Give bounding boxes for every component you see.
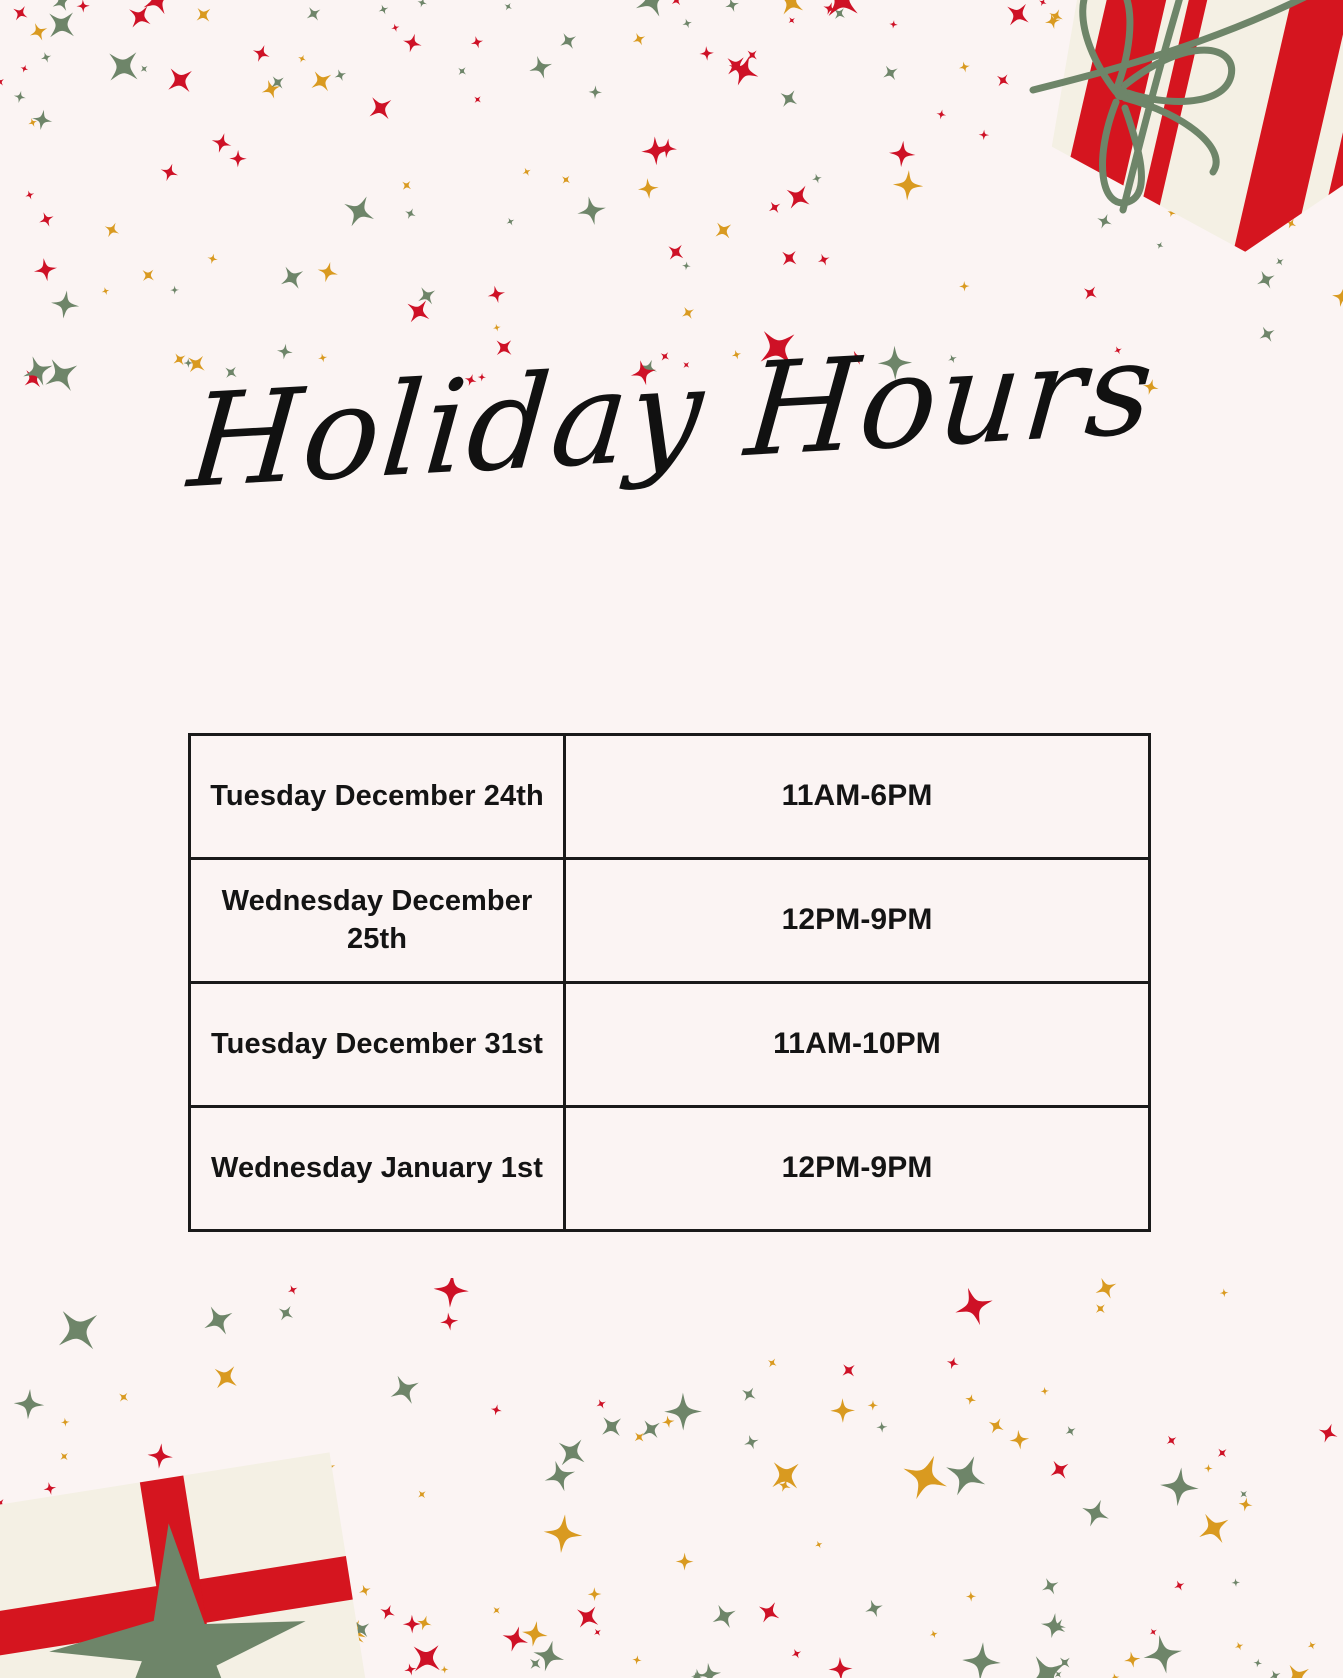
table-cell-day: Wednesday January 1st (190, 1107, 565, 1231)
sparkle-confetti-icon (0, 1278, 1343, 1678)
page-title: Holiday Hours (184, 325, 1159, 508)
table-cell-day: Tuesday December 24th (190, 735, 565, 859)
day-label: Wednesday January 1st (211, 1152, 543, 1184)
gift-box-striped-icon (973, 0, 1343, 260)
day-label: Tuesday December 24th (210, 780, 544, 812)
day-label: Wednesday December 25th (222, 885, 533, 954)
hours-label: 12PM-9PM (782, 1151, 933, 1184)
table-cell-hours: 12PM-9PM (565, 859, 1150, 983)
hours-label: 11AM-6PM (782, 779, 933, 812)
day-label: Tuesday December 31st (211, 1028, 543, 1060)
table-cell-day: Tuesday December 31st (190, 983, 565, 1107)
holiday-hours-poster: Holiday Hours Tuesday December 24th 11AM… (0, 0, 1343, 1678)
hours-label: 11AM-10PM (773, 1027, 941, 1060)
table-cell-day: Wednesday December 25th (190, 859, 565, 983)
table-cell-hours: 11AM-10PM (565, 983, 1150, 1107)
table-row: Tuesday December 24th 11AM-6PM (190, 735, 1150, 859)
page-title-container: Holiday Hours (0, 352, 1343, 480)
hours-label: 12PM-9PM (782, 903, 933, 936)
table-row: Wednesday December 25th 12PM-9PM (190, 859, 1150, 983)
table-body: Tuesday December 24th 11AM-6PM Wednesday… (190, 735, 1150, 1231)
table-row: Tuesday December 31st 11AM-10PM (190, 983, 1150, 1107)
table-cell-hours: 12PM-9PM (565, 1107, 1150, 1231)
gift-box-star-icon (0, 1398, 380, 1678)
table-row: Wednesday January 1st 12PM-9PM (190, 1107, 1150, 1231)
holiday-hours-table: Tuesday December 24th 11AM-6PM Wednesday… (188, 733, 1151, 1232)
table-cell-hours: 11AM-6PM (565, 735, 1150, 859)
